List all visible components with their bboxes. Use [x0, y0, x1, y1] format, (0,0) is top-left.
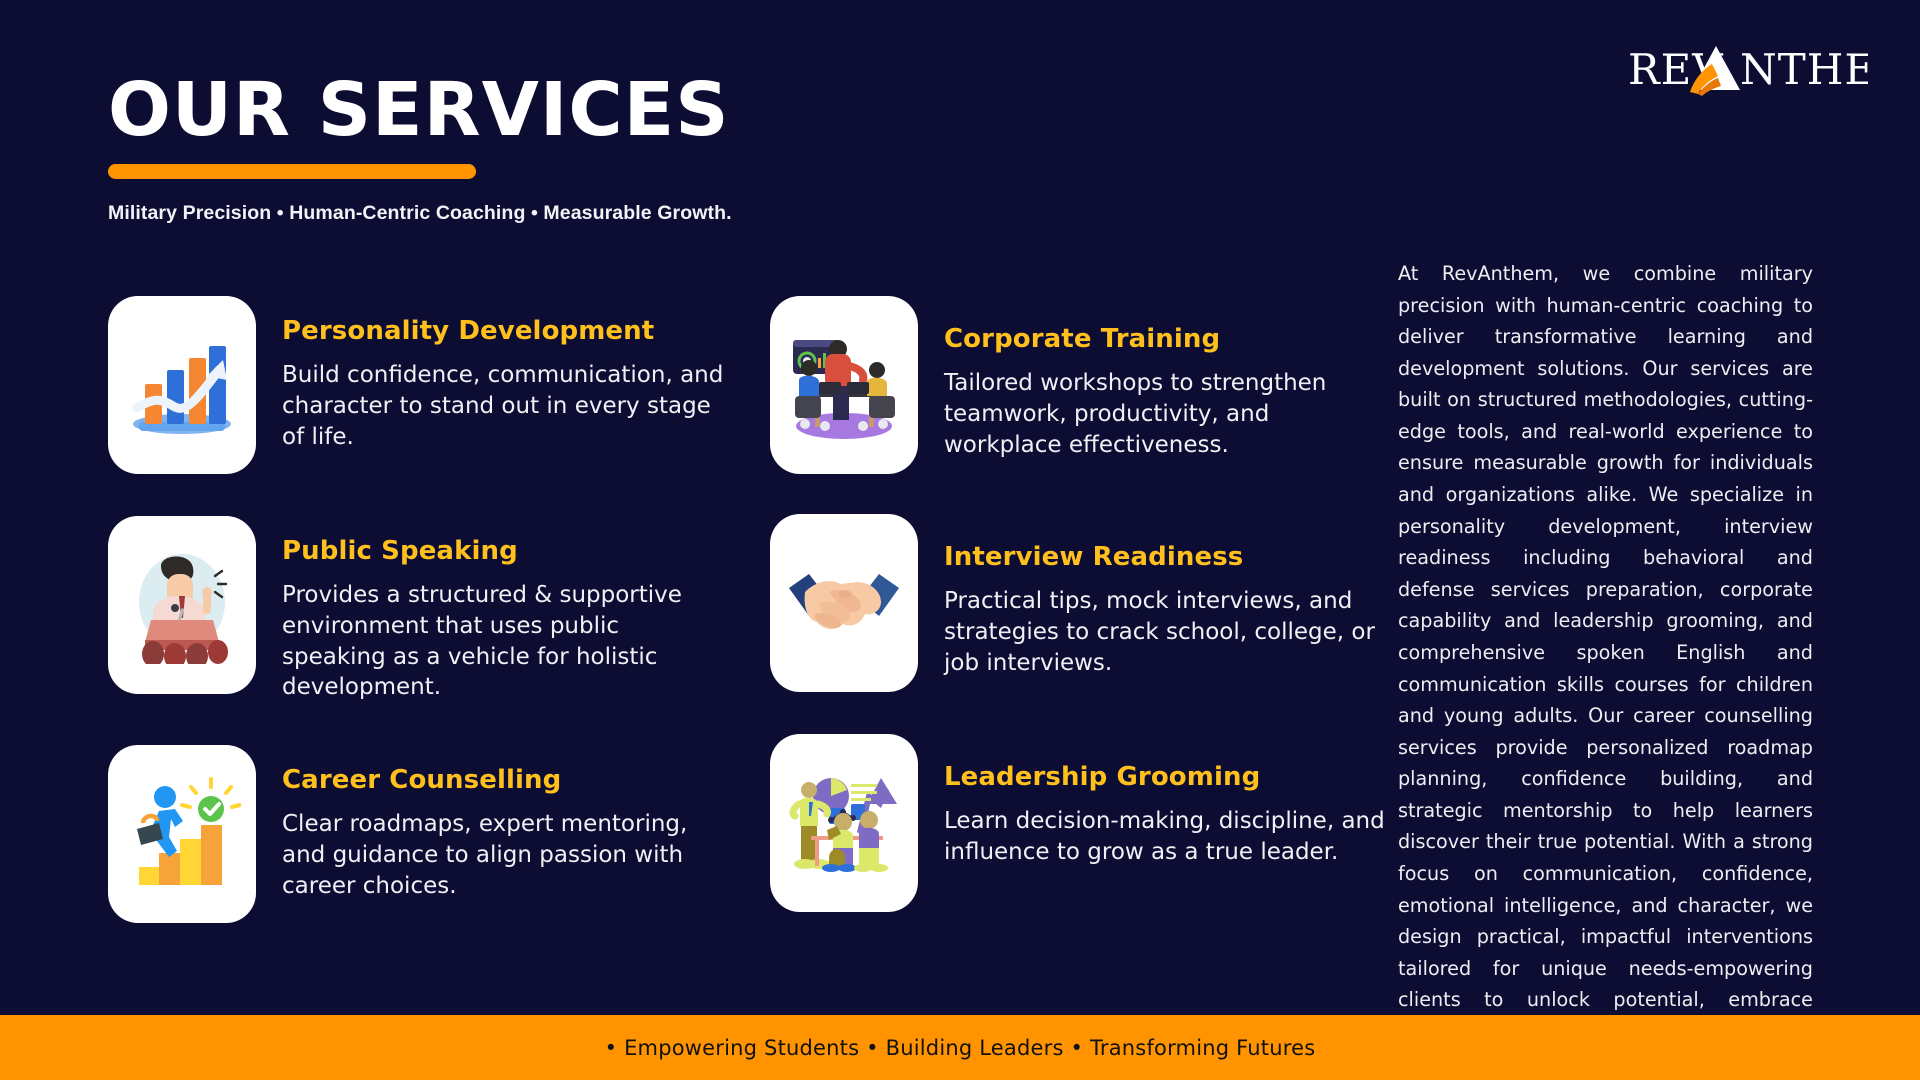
page-title: OUR SERVICES [108, 72, 732, 150]
service-title: Interview Readiness [944, 542, 1390, 572]
svg-text:NTHEM: NTHEM [1740, 45, 1868, 94]
service-icon-wrapper [108, 516, 256, 694]
service-description: Provides a structured & supportive envir… [282, 580, 728, 703]
service-card[interactable]: Career Counselling Clear roadmaps, exper… [108, 745, 728, 923]
service-icon-wrapper [108, 745, 256, 923]
service-card[interactable]: Leadership Grooming Learn decision-makin… [770, 734, 1390, 912]
handshake-icon [785, 544, 903, 662]
career-steps-icon [123, 775, 241, 893]
service-title: Corporate Training [944, 324, 1390, 354]
service-card[interactable]: Interview Readiness Practical tips, mock… [770, 514, 1390, 692]
service-text: Personality Development Build confidence… [256, 296, 728, 452]
service-icon-wrapper [108, 296, 256, 474]
page-subtitle: Military Precision • Human-Centric Coach… [108, 202, 732, 225]
leadership-presentation-icon [785, 764, 903, 882]
service-icon-wrapper [770, 734, 918, 912]
services-column-left: Personality Development Build confidence… [108, 296, 728, 923]
podium-speaker-icon [123, 546, 241, 664]
service-card[interactable]: Personality Development Build confidence… [108, 296, 728, 474]
service-description: Build confidence, communication, and cha… [282, 360, 728, 452]
service-text: Public Speaking Provides a structured & … [256, 516, 728, 703]
team-meeting-icon [785, 326, 903, 444]
service-description: Clear roadmaps, expert mentoring, and gu… [282, 809, 728, 901]
page-header: OUR SERVICES Military Precision • Human-… [108, 72, 732, 225]
service-title: Career Counselling [282, 765, 728, 795]
service-title: Leadership Grooming [944, 762, 1390, 792]
service-title: Personality Development [282, 316, 728, 346]
title-underline [108, 164, 476, 179]
service-description: Tailored workshops to strengthen teamwor… [944, 368, 1390, 460]
revanthem-logo-icon: REV NTHEM [1628, 36, 1868, 100]
service-text: Career Counselling Clear roadmaps, exper… [256, 745, 728, 901]
service-description: Learn decision-making, discipline, and i… [944, 806, 1390, 868]
service-card[interactable]: Public Speaking Provides a structured & … [108, 516, 728, 703]
service-icon-wrapper [770, 296, 918, 474]
service-card[interactable]: Corporate Training Tailored workshops to… [770, 296, 1390, 474]
service-icon-wrapper [770, 514, 918, 692]
service-description: Practical tips, mock interviews, and str… [944, 586, 1390, 678]
service-text: Corporate Training Tailored workshops to… [918, 296, 1390, 460]
services-column-right: Corporate Training Tailored workshops to… [770, 296, 1390, 912]
footer-bar: • Empowering Students • Building Leaders… [0, 1015, 1920, 1080]
brand-logo: REV NTHEM [1628, 36, 1868, 100]
footer-tagline: • Empowering Students • Building Leaders… [605, 1036, 1316, 1060]
about-paragraph: At RevAnthem, we combine military precis… [1398, 258, 1813, 1079]
bar-chart-growth-icon [123, 326, 241, 444]
service-text: Interview Readiness Practical tips, mock… [918, 514, 1390, 678]
service-title: Public Speaking [282, 536, 728, 566]
service-text: Leadership Grooming Learn decision-makin… [918, 734, 1390, 868]
